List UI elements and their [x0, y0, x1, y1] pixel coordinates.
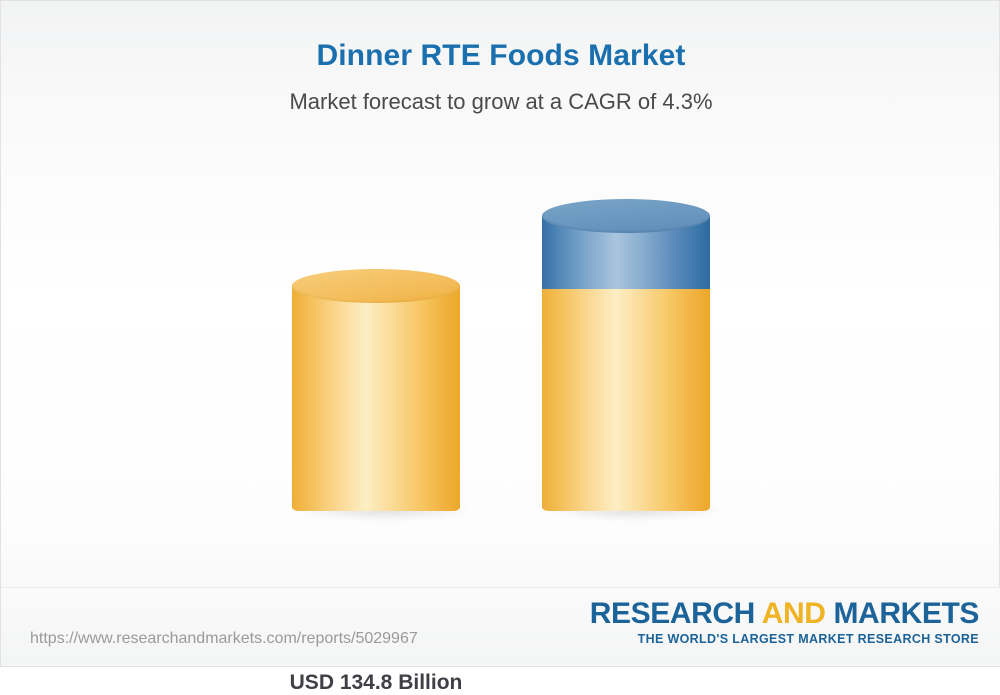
footer-bar: https://www.researchandmarkets.com/repor… — [1, 587, 1000, 666]
cylinder-top-cap-2030 — [542, 199, 710, 233]
brand-tagline: THE WORLD'S LARGEST MARKET RESEARCH STOR… — [590, 632, 979, 646]
cylinder-2030 — [542, 201, 710, 511]
chart-plot-area: USD 134.8 Billion 2024 USD 173.5 Billion… — [1, 131, 1000, 581]
brand-word-research: RESEARCH — [590, 597, 762, 630]
bar-value-label-2024: USD 134.8 Billion — [252, 671, 500, 695]
cylinder-top-cap-2024 — [292, 269, 460, 303]
brand-logo: RESEARCH AND MARKETS THE WORLD'S LARGEST… — [590, 598, 979, 646]
cylinder-2024 — [292, 271, 460, 511]
brand-name: RESEARCH AND MARKETS — [590, 598, 979, 630]
page-title: Dinner RTE Foods Market — [1, 39, 1000, 73]
infographic-canvas: Dinner RTE Foods Market Market forecast … — [0, 0, 1000, 667]
chart-subtitle: Market forecast to grow at a CAGR of 4.3… — [1, 89, 1000, 115]
source-url[interactable]: https://www.researchandmarkets.com/repor… — [30, 630, 418, 648]
brand-word-and: AND — [762, 597, 826, 630]
cylinder-body-base-2030 — [542, 289, 710, 511]
brand-word-markets: MARKETS — [826, 597, 979, 630]
cylinder-body-base-2024 — [292, 286, 460, 511]
